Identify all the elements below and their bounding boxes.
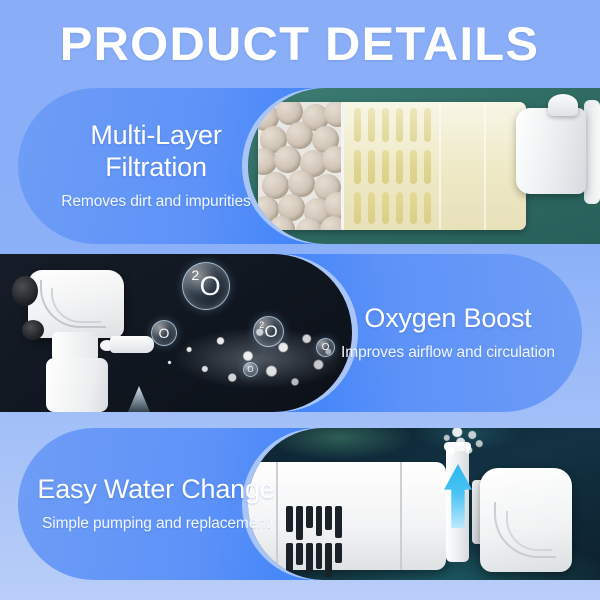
- o2-subscript: 2: [259, 320, 264, 330]
- underwater-scene: [248, 428, 600, 580]
- feature-text-oxygen-boost: Oxygen Boost Improves airflow and circul…: [322, 254, 574, 412]
- feature-panel-easy-water-change: Easy Water Change Simple pumping and rep…: [0, 428, 600, 580]
- intake-vent-grille: [286, 506, 342, 556]
- o2-letter: O: [264, 322, 277, 342]
- feature-subtitle: Simple pumping and replacement: [42, 514, 270, 534]
- dark-tank-scene: 2O 2O O O O: [0, 254, 352, 412]
- feature-text-multi-layer-filtration: Multi-Layer Filtration Removes dirt and …: [36, 88, 276, 244]
- water-spray: [146, 302, 342, 410]
- feature-subtitle: Removes dirt and impurities: [61, 192, 250, 212]
- bubble-stream: [434, 428, 492, 458]
- filter-cartridge-icon: [258, 102, 526, 230]
- oxygen-pump-photo: 2O 2O O O O: [0, 254, 352, 412]
- product-details-poster: PRODUCT DETAILS: [0, 0, 600, 600]
- pump-motor-head: [480, 468, 572, 572]
- pump-housing-side: [584, 100, 600, 204]
- o2-subscript: 2: [191, 267, 199, 283]
- page-header: PRODUCT DETAILS: [0, 0, 600, 86]
- o2-letter: O: [159, 325, 170, 341]
- water-change-pump-photo: [248, 428, 600, 580]
- suction-cup-lower: [22, 320, 44, 340]
- feature-panel-oxygen-boost: 2O 2O O O O Oxygen Boost Improves airflo…: [0, 254, 600, 412]
- o2-bubble-icon: 2O: [253, 316, 284, 347]
- o2-bubble-icon: O: [243, 362, 258, 377]
- pump-ribs: [40, 280, 106, 328]
- feature-title: Oxygen Boost: [364, 303, 531, 334]
- feature-title: Multi-Layer Filtration: [36, 120, 276, 183]
- o2-bubble-icon: O: [151, 320, 177, 346]
- pump-motor-head: [516, 108, 586, 194]
- o2-bubble-icon: 2O: [182, 262, 230, 310]
- page-title: PRODUCT DETAILS: [60, 16, 539, 71]
- pump-knob: [548, 94, 578, 116]
- filter-cartridge-photo: [248, 88, 600, 244]
- feature-subtitle: Improves airflow and circulation: [341, 343, 555, 363]
- suction-cup: [12, 276, 38, 306]
- o2-letter: O: [200, 271, 221, 302]
- feature-text-easy-water-change: Easy Water Change Simple pumping and rep…: [36, 428, 276, 580]
- pump-ribs: [494, 502, 556, 558]
- pump-base: [46, 358, 108, 412]
- sponge-media: [344, 102, 526, 230]
- o2-letter: O: [247, 365, 253, 374]
- feature-title: Easy Water Change: [37, 474, 274, 505]
- feature-panel-multi-layer-filtration: Multi-Layer Filtration Removes dirt and …: [0, 88, 600, 244]
- aquarium-scene: [248, 88, 600, 244]
- pump-housing: [248, 462, 446, 570]
